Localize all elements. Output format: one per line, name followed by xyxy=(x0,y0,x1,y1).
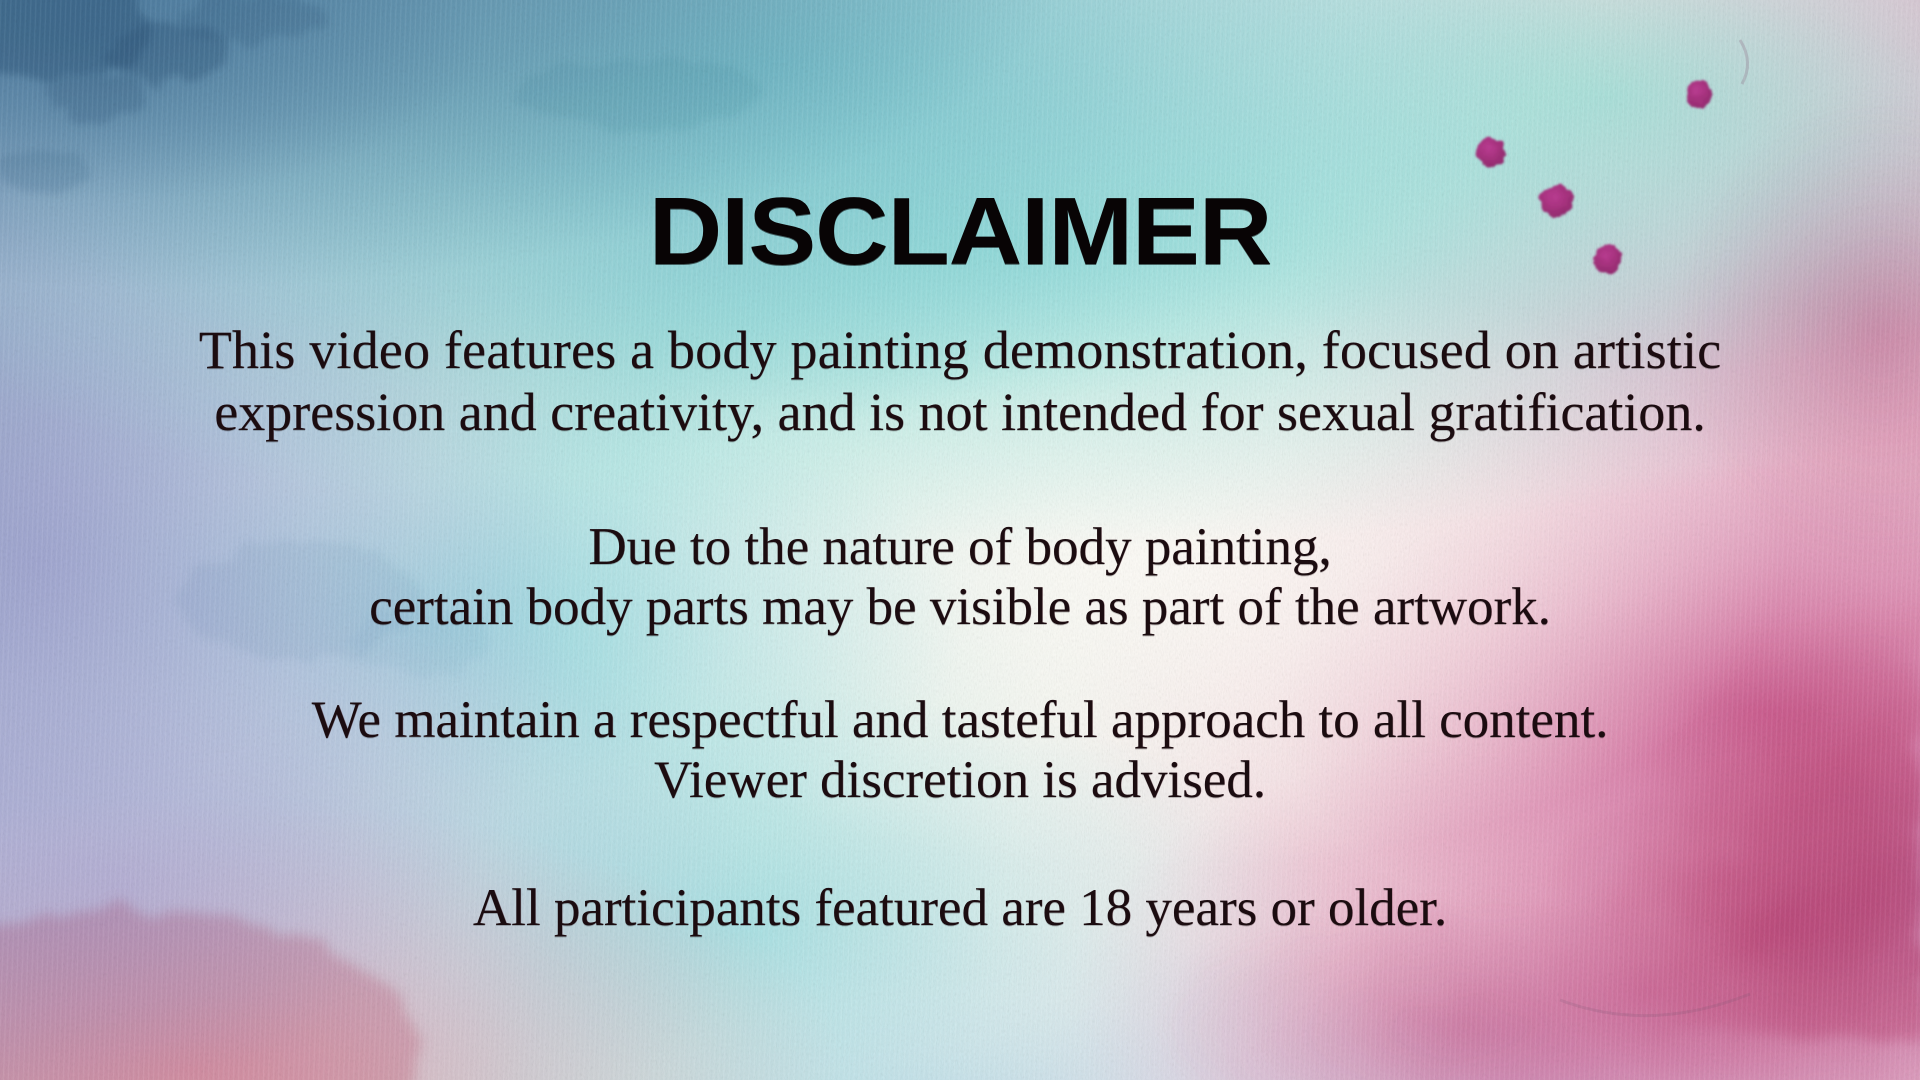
paragraph-line: Due to the nature of body painting, xyxy=(0,517,1920,577)
paragraph-artistic-intent: This video features a body painting demo… xyxy=(0,320,1920,443)
paragraph-line: Viewer discretion is advised. xyxy=(0,750,1920,810)
paragraph-line: This video features a body painting demo… xyxy=(0,320,1920,382)
paragraph-line: certain body parts may be visible as par… xyxy=(0,577,1920,637)
paragraph-age-statement: All participants featured are 18 years o… xyxy=(0,878,1920,938)
paragraph-viewer-discretion: We maintain a respectful and tasteful ap… xyxy=(0,690,1920,811)
paragraph-nudity-notice: Due to the nature of body painting, cert… xyxy=(0,517,1920,638)
paragraph-line: All participants featured are 18 years o… xyxy=(0,878,1920,938)
disclaimer-content: DISCLAIMER This video features a body pa… xyxy=(0,0,1920,1080)
paragraph-line: We maintain a respectful and tasteful ap… xyxy=(0,690,1920,750)
page-title: DISCLAIMER xyxy=(0,184,1920,280)
disclaimer-slide: DISCLAIMER This video features a body pa… xyxy=(0,0,1920,1080)
paragraph-line: expression and creativity, and is not in… xyxy=(0,382,1920,444)
